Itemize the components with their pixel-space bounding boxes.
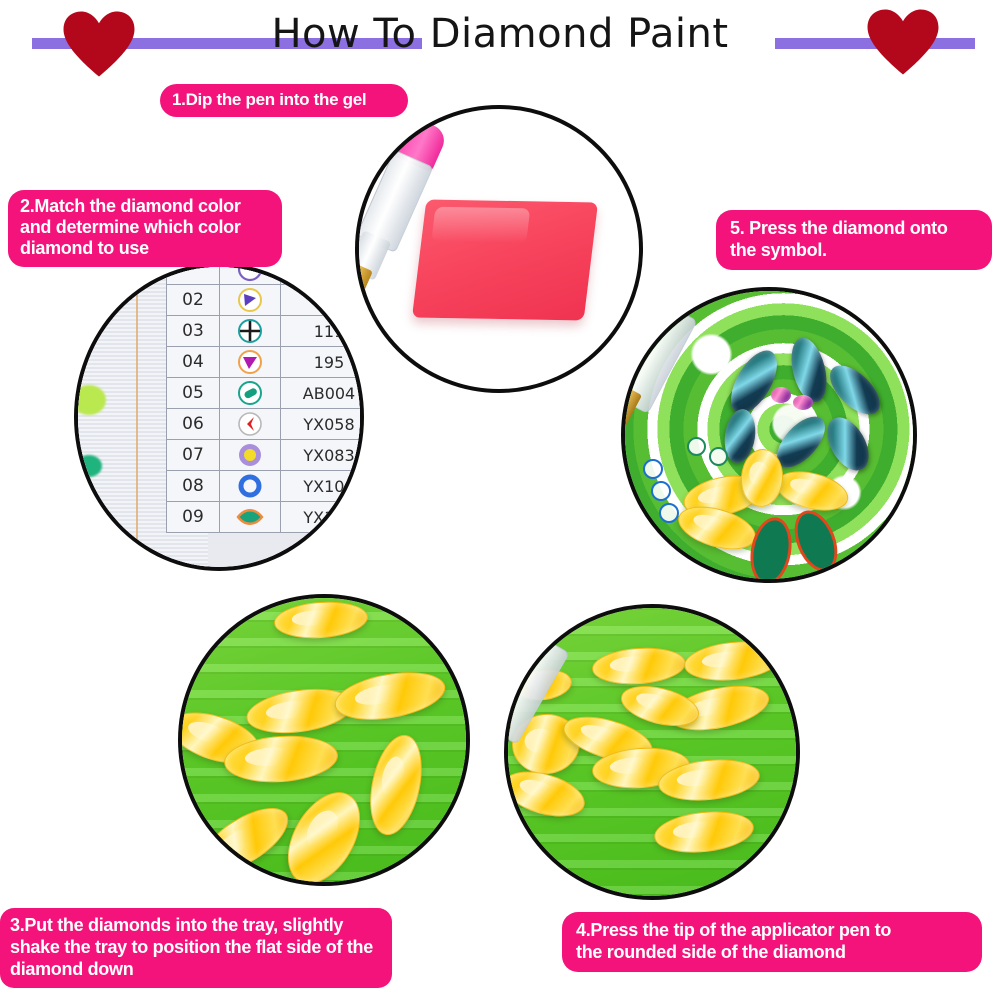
- step-2-line-3: diamond to use: [20, 238, 270, 259]
- step-5-label: 5. Press the diamond onto the symbol.: [716, 210, 992, 270]
- step-4-label: 4.Press the tip of the applicator pen to…: [562, 912, 982, 972]
- chart-number: 02: [167, 285, 220, 316]
- green-leaf-orange-outline-icon: [235, 502, 265, 532]
- page-title: How To Diamond Paint: [250, 12, 750, 56]
- panel-pen-picks-diamond: [504, 604, 800, 900]
- panel-diamonds-in-tray: [178, 594, 470, 886]
- chart-symbol: [220, 316, 281, 347]
- color-symbol-table-body: 026 02 093 03: [167, 263, 365, 533]
- panel-press-diamond-on-symbol: [621, 287, 917, 583]
- canvas-color-blob: [76, 455, 102, 477]
- step-3-line-2: shake the tray to position the flat side…: [10, 936, 382, 958]
- chart-code: YX106: [281, 471, 365, 502]
- chart-number: 08: [167, 471, 220, 502]
- chart-symbol: [220, 409, 281, 440]
- pink-gem: [793, 395, 813, 410]
- filled-yellow-dot-purple-ring-icon: [235, 440, 265, 470]
- table-row: 09 YX125: [167, 502, 365, 533]
- canvas-symbol-dot: [651, 481, 671, 501]
- canvas-symbol-dot: [643, 459, 663, 479]
- step-1-label: 1.Dip the pen into the gel: [160, 84, 408, 117]
- heart-icon: [62, 10, 136, 78]
- step-3-line-3: diamond down: [10, 958, 382, 980]
- infographic-canvas: How To Diamond Paint: [0, 0, 1001, 1001]
- step-2-line-1: 2.Match the diamond color: [20, 196, 270, 217]
- capsule-teal-circle-icon: [235, 378, 265, 408]
- canvas-symbol-dot: [659, 503, 679, 523]
- chart-number: 09: [167, 502, 220, 533]
- table-row: 03 111: [167, 316, 365, 347]
- chart-symbol: [220, 502, 281, 533]
- table-row: 05 AB004: [167, 378, 365, 409]
- chart-number: 06: [167, 409, 220, 440]
- panel-dip-pen-in-gel: [355, 105, 643, 393]
- chart-number: 07: [167, 440, 220, 471]
- step-3-label: 3.Put the diamonds into the tray, slight…: [0, 908, 392, 988]
- photo-diamond-tray: [182, 598, 466, 882]
- heart-icon: [866, 8, 940, 76]
- step-1-line-1: 1.Dip the pen into the gel: [172, 90, 396, 110]
- chart-code: 195: [281, 347, 365, 378]
- step-5-line-2: the symbol.: [730, 239, 978, 261]
- chart-code: 111: [281, 316, 365, 347]
- chart-number: 04: [167, 347, 220, 378]
- photo-color-chart: 026 02 093 03: [78, 267, 360, 567]
- step-4-line-2: the rounded side of the diamond: [576, 941, 968, 963]
- chart-symbol: [220, 471, 281, 502]
- photo-canvas-mandala: [625, 291, 913, 579]
- canvas-symbol-dot: [687, 437, 706, 456]
- pink-gem: [771, 387, 791, 403]
- table-row: 08 YX106: [167, 471, 365, 502]
- step-2-label: 2.Match the diamond color and determine …: [8, 190, 282, 267]
- table-row: 07 YX083: [167, 440, 365, 471]
- table-row: 06 YX058: [167, 409, 365, 440]
- chart-code: 093: [281, 285, 365, 316]
- chart-code: AB004: [281, 378, 365, 409]
- step-3-line-1: 3.Put the diamonds into the tray, slight…: [10, 914, 382, 936]
- chart-symbol: [220, 440, 281, 471]
- chart-code: YX125: [281, 502, 365, 533]
- table-row: 04 195: [167, 347, 365, 378]
- step-5-line-1: 5. Press the diamond onto: [730, 217, 978, 239]
- photo-pen-pickup: [508, 608, 796, 896]
- triangle-magenta-circle-orange-icon: [235, 347, 265, 377]
- chevron-left-red-circle-icon: [235, 409, 265, 439]
- chart-symbol: [220, 347, 281, 378]
- chart-number: 05: [167, 378, 220, 409]
- chart-symbol: [220, 285, 281, 316]
- step-4-line-1: 4.Press the tip of the applicator pen to: [576, 919, 968, 941]
- chart-code: 026: [281, 263, 365, 285]
- blue-ring-icon: [235, 471, 265, 501]
- canvas-guide-line: [136, 267, 138, 567]
- chart-code: YX058: [281, 409, 365, 440]
- photo-pen-dipping: [359, 109, 639, 389]
- canvas-symbol-dot: [709, 447, 728, 466]
- step-2-line-2: and determine which color: [20, 217, 270, 238]
- panel-color-chart: 026 02 093 03: [74, 263, 364, 571]
- gel-pad: [412, 200, 598, 321]
- color-symbol-table: 026 02 093 03: [166, 263, 364, 533]
- chart-code: YX083: [281, 440, 365, 471]
- chart-symbol: [220, 378, 281, 409]
- chart-number: 03: [167, 316, 220, 347]
- plus-circle-teal-icon: [235, 316, 265, 346]
- table-row: 02 093: [167, 285, 365, 316]
- triangle-purple-circle-yellow-icon: [235, 285, 265, 315]
